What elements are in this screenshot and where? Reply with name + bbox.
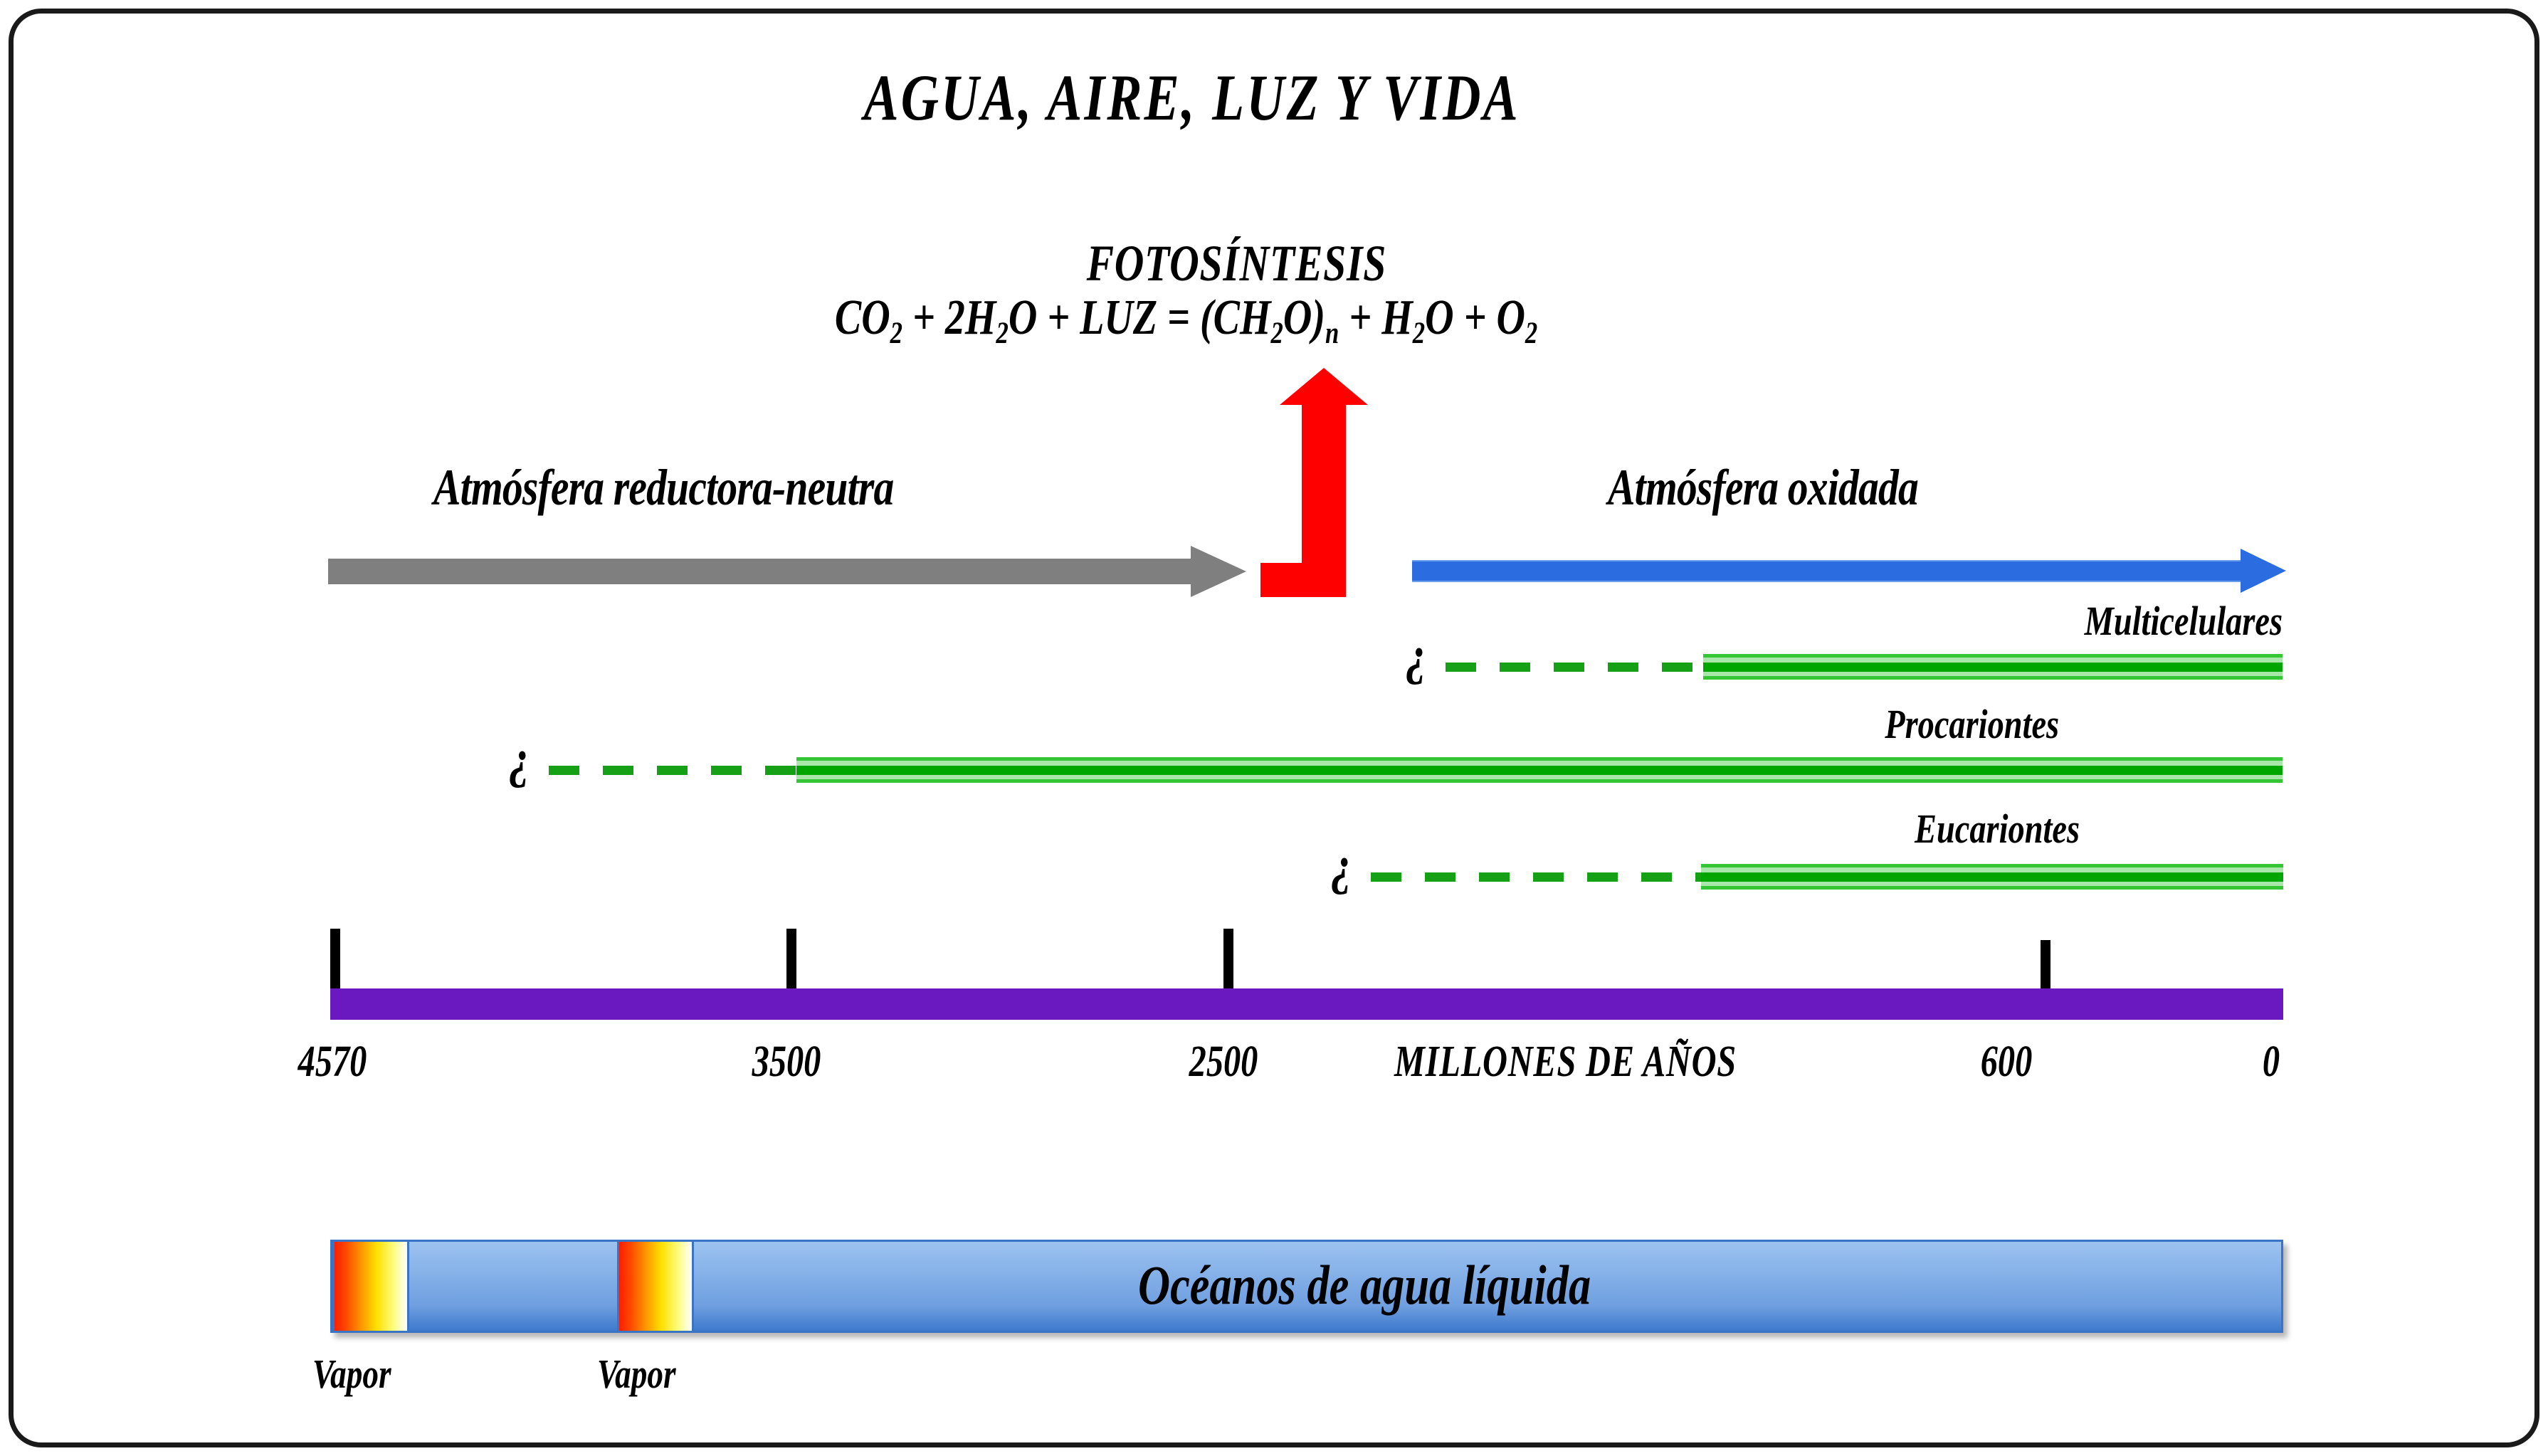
timeline-label-4570: 4570 xyxy=(298,1037,367,1087)
life-line-multicelulares: ¿ Multicelulares xyxy=(1409,650,2283,683)
uncertain-range xyxy=(1371,872,1701,882)
timeline-label-3500: 3500 xyxy=(752,1037,821,1087)
eq-ch2o-sub: 2 xyxy=(1271,316,1283,350)
life-line-label: Multicelulares xyxy=(2085,597,2283,645)
photosynthesis-arrow xyxy=(1260,368,1403,597)
vapor-band-1 xyxy=(332,1242,409,1331)
timeline-label-2500: 2500 xyxy=(1189,1037,1258,1087)
arrow-shaft xyxy=(328,559,1193,584)
vapor-band-2 xyxy=(617,1242,694,1331)
timeline-label-0: 0 xyxy=(2263,1037,2280,1087)
eq-n-sub: n xyxy=(1325,316,1339,350)
atmosphere-oxidized-label: Atmósfera oxidada xyxy=(1608,458,1918,517)
life-line-label: Eucariontes xyxy=(1915,805,2080,853)
certain-range xyxy=(1701,864,2283,890)
ocean-label: Océanos de agua líquida xyxy=(1138,1253,1591,1317)
timeline-label-600: 600 xyxy=(1981,1037,2033,1087)
timeline-bar xyxy=(330,988,2283,1020)
question-mark-icon: ¿ xyxy=(509,728,530,790)
eq-co2: CO xyxy=(835,290,890,345)
arrow-head-icon xyxy=(2241,549,2286,593)
eq-o2: O) xyxy=(1283,290,1325,345)
arrow-head-up-icon xyxy=(1280,368,1368,405)
life-line-label: Procariontes xyxy=(1885,700,2059,748)
uncertain-range xyxy=(1446,663,1703,672)
eq-plus1: + 2H xyxy=(902,290,996,345)
arrow-shaft xyxy=(1302,402,1346,597)
vapor-label-2: Vapor xyxy=(597,1350,676,1398)
atmosphere-reducing-label: Atmósfera reductora-neutra xyxy=(433,458,893,517)
vapor-label-1: Vapor xyxy=(312,1350,391,1398)
question-mark-icon: ¿ xyxy=(1331,835,1352,897)
diagram-canvas: AGUA, AIRE, LUZ Y VIDA FOTOSÍNTESIS CO2 … xyxy=(0,0,2548,1456)
photosynthesis-equation: CO2 + 2H2O + LUZ = (CH2O)n + H2O + O2 xyxy=(835,290,1537,351)
certain-range xyxy=(1703,654,2283,680)
eq-h2o2-sub: 2 xyxy=(1413,316,1425,350)
eq-o1: O + LUZ = (CH xyxy=(1009,290,1271,345)
diagram-frame: AGUA, AIRE, LUZ Y VIDA FOTOSÍNTESIS CO2 … xyxy=(9,9,2539,1447)
page-title: AGUA, AIRE, LUZ Y VIDA xyxy=(863,60,1520,135)
arrow-head-icon xyxy=(1191,546,1246,597)
certain-range xyxy=(796,757,2283,783)
reducing-atmosphere-arrow xyxy=(328,546,1246,597)
eq-o3: O + O xyxy=(1425,290,1525,345)
arrow-shaft xyxy=(1412,560,2243,582)
life-line-eucariontes: ¿ Eucariontes xyxy=(1334,860,2283,893)
timeline-axis-caption: MILLONES DE AÑOS xyxy=(1394,1037,1737,1087)
eq-co2-sub: 2 xyxy=(890,316,902,350)
life-line-procariontes: ¿ Procariontes xyxy=(512,754,2283,786)
photosynthesis-heading: FOTOSÍNTESIS xyxy=(1087,234,1387,293)
uncertain-range xyxy=(549,766,796,775)
eq-plus2: + H xyxy=(1339,290,1412,345)
eq-o2-sub: 2 xyxy=(1525,316,1537,350)
oxidized-atmosphere-arrow xyxy=(1412,549,2286,593)
question-mark-icon: ¿ xyxy=(1406,625,1427,687)
eq-h2o1-sub: 2 xyxy=(996,316,1008,350)
